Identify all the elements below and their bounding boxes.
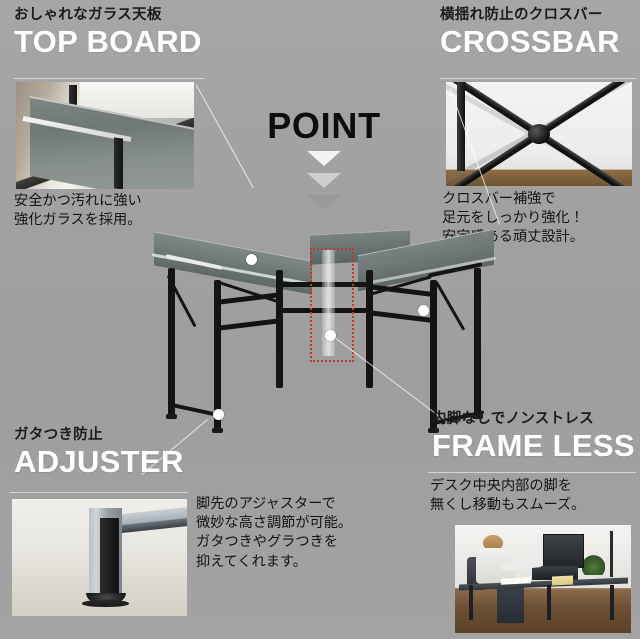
frame-less-description: デスク中央内部の脚を 無くし移動もスムーズ。 bbox=[430, 477, 585, 515]
crossbar-desc-line-1: クロスバー補強で bbox=[442, 190, 584, 209]
desk-foot-1 bbox=[166, 414, 177, 419]
adjuster-desc-line-3: ガタつきやグラつきを bbox=[196, 533, 352, 552]
desk-leg-far-right bbox=[474, 268, 481, 416]
feature-frame-less: 内脚なしでノンストレス FRAME LESS bbox=[432, 412, 635, 462]
leader-line-top-board bbox=[196, 84, 254, 188]
point-block: POINT bbox=[254, 108, 394, 210]
crossbar-kicker: 横揺れ防止のクロスバー bbox=[440, 8, 620, 24]
callout-dot-adjuster bbox=[213, 409, 224, 420]
desk-leg-center-left bbox=[276, 270, 283, 388]
feature-adjuster: ガタつき防止 ADJUSTER bbox=[14, 428, 184, 478]
callout-dot-frame-less bbox=[325, 330, 336, 341]
crossbar-photo bbox=[446, 82, 632, 186]
adjuster-kicker: ガタつき防止 bbox=[14, 428, 184, 444]
top-board-desc-line-2: 強化ガラスを採用。 bbox=[14, 211, 142, 230]
crossbar-rule bbox=[440, 78, 636, 79]
frame-less-title: FRAME LESS bbox=[432, 430, 635, 463]
top-board-photo bbox=[16, 82, 194, 189]
callout-dot-crossbar bbox=[418, 305, 429, 316]
top-board-kicker: おしゃれなガラス天板 bbox=[14, 8, 202, 24]
frame-less-rule bbox=[428, 472, 636, 473]
point-label: POINT bbox=[254, 108, 394, 144]
top-board-title: TOP BOARD bbox=[14, 26, 202, 59]
arrow-down-icon-1 bbox=[307, 151, 341, 166]
adjuster-desc-line-2: 微妙な高さ調節が可能。 bbox=[196, 514, 352, 533]
crossbar-title: CROSSBAR bbox=[440, 26, 620, 59]
feature-top-board: おしゃれなガラス天板 TOP BOARD bbox=[14, 8, 202, 58]
frame-less-desc-line-2: 無くし移動もスムーズ。 bbox=[430, 496, 585, 515]
desk-leg-right-front bbox=[430, 280, 437, 430]
top-board-rule bbox=[14, 78, 204, 79]
adjuster-desc-line-4: 抑えてくれます。 bbox=[196, 553, 352, 572]
top-board-desc-line-1: 安全かつ汚れに強い bbox=[14, 192, 142, 211]
adjuster-description: 脚先のアジャスターで 微妙な高さ調節が可能。 ガタつきやグラつきを 抑えてくれま… bbox=[196, 495, 352, 572]
adjuster-photo bbox=[12, 499, 187, 616]
frame-less-photo bbox=[455, 525, 631, 633]
adjuster-title: ADJUSTER bbox=[14, 446, 184, 479]
arrow-down-icon-2 bbox=[307, 173, 341, 188]
feature-crossbar: 横揺れ防止のクロスバー CROSSBAR bbox=[440, 8, 620, 58]
frame-less-kicker: 内脚なしでノンストレス bbox=[432, 412, 635, 428]
arrow-down-icon-3 bbox=[307, 195, 341, 210]
desk-foot-2 bbox=[212, 428, 223, 433]
desk-stretcher-left-lower bbox=[218, 318, 280, 331]
callout-dot-top-board bbox=[246, 254, 257, 265]
desk-cross-right bbox=[435, 281, 466, 331]
adjuster-desc-line-1: 脚先のアジャスターで bbox=[196, 495, 352, 514]
frame-less-desc-line-1: デスク中央内部の脚を bbox=[430, 477, 585, 496]
top-board-description: 安全かつ汚れに強い 強化ガラスを採用。 bbox=[14, 192, 142, 230]
adjuster-rule bbox=[10, 492, 188, 493]
no-center-leg-highlight bbox=[310, 248, 354, 362]
infographic-canvas: おしゃれなガラス天板 TOP BOARD 安全かつ汚れに強い 強化ガラスを採用。… bbox=[0, 0, 640, 639]
